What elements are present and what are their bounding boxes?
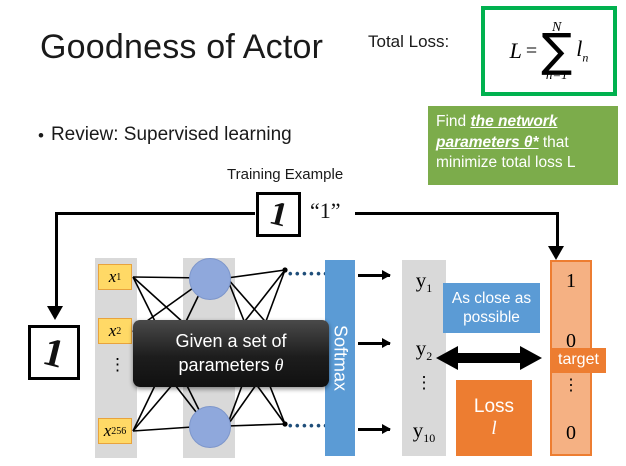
note-prefix: Find — [436, 113, 470, 130]
sum-lower-limit: n=1 — [546, 68, 568, 81]
parameters-tooltip: Given a set of parameters θ — [133, 320, 329, 387]
target-label: target — [551, 348, 606, 373]
edge-ellipsis-top-icon: •••••• — [288, 266, 330, 281]
training-example-caption: Training Example — [227, 166, 343, 183]
input-ellipsis-icon: ⋮ — [109, 360, 126, 369]
target-ellipsis-icon: ⋮ — [552, 382, 590, 391]
input-node-x256: x256 — [98, 418, 132, 444]
double-arrow-icon — [436, 345, 542, 371]
softmax-layer: Softmax — [325, 260, 355, 456]
formula-equals: = — [526, 40, 537, 63]
connector-line-left-vertical — [55, 212, 58, 310]
bullet-text: Review: Supervised learning — [51, 124, 292, 146]
input-node-x2: x2 — [98, 318, 132, 344]
bullet-marker-icon: • — [38, 127, 44, 144]
arrow-head-down-left-icon — [47, 306, 63, 320]
output-node-y1: y1 — [402, 268, 446, 296]
total-loss-label: Total Loss: — [368, 32, 449, 52]
edge-ellipsis-bottom-icon: •••••• — [288, 418, 330, 433]
total-loss-formula: L = N ∑ n=1 ln — [485, 10, 613, 92]
connector-line-left-horizontal — [55, 212, 255, 215]
output-ellipsis-icon: ⋮ — [402, 378, 446, 387]
softmax-output-arrow-2-icon — [358, 342, 390, 345]
loss-symbol: l — [491, 418, 496, 440]
softmax-output-arrow-3-icon — [358, 428, 390, 431]
connector-line-right-horizontal — [355, 212, 559, 215]
as-close-as-possible-box: As close as possible — [443, 283, 540, 333]
target-value-1: 1 — [552, 270, 590, 293]
output-node-y10: y10 — [402, 418, 446, 446]
training-digit-label: “1” — [310, 198, 341, 224]
formula-lhs: L — [510, 38, 522, 64]
tooltip-line-2: parameters θ — [179, 354, 284, 377]
total-loss-formula-box: L = N ∑ n=1 ln — [481, 6, 617, 96]
formula-term: ln — [576, 36, 588, 65]
bullet-row: • Review: Supervised learning — [38, 124, 292, 146]
training-digit-image-top: 1 — [256, 192, 301, 237]
digit-glyph: 1 — [266, 194, 292, 235]
softmax-output-arrow-1-icon — [358, 274, 390, 277]
digit-glyph: 1 — [39, 327, 70, 377]
loss-title: Loss — [474, 396, 514, 418]
softmax-label: Softmax — [330, 325, 351, 391]
sigma-icon: ∑ — [541, 33, 572, 69]
connector-line-right-vertical — [556, 212, 559, 250]
hidden-neuron-3 — [189, 406, 231, 448]
target-value-3: 0 — [552, 422, 590, 445]
arrow-head-down-right-icon — [548, 246, 564, 260]
input-node-x1: x1 — [98, 264, 132, 290]
summation-operator: N ∑ n=1 — [541, 21, 572, 82]
objective-note: Find the network parameters θ* that mini… — [428, 106, 618, 185]
loss-box: Loss l — [456, 380, 532, 456]
tooltip-line-1: Given a set of — [175, 330, 286, 353]
training-digit-image-left: 1 — [28, 325, 80, 380]
hidden-neuron-1 — [189, 258, 231, 300]
page-title: Goodness of Actor — [40, 28, 323, 67]
